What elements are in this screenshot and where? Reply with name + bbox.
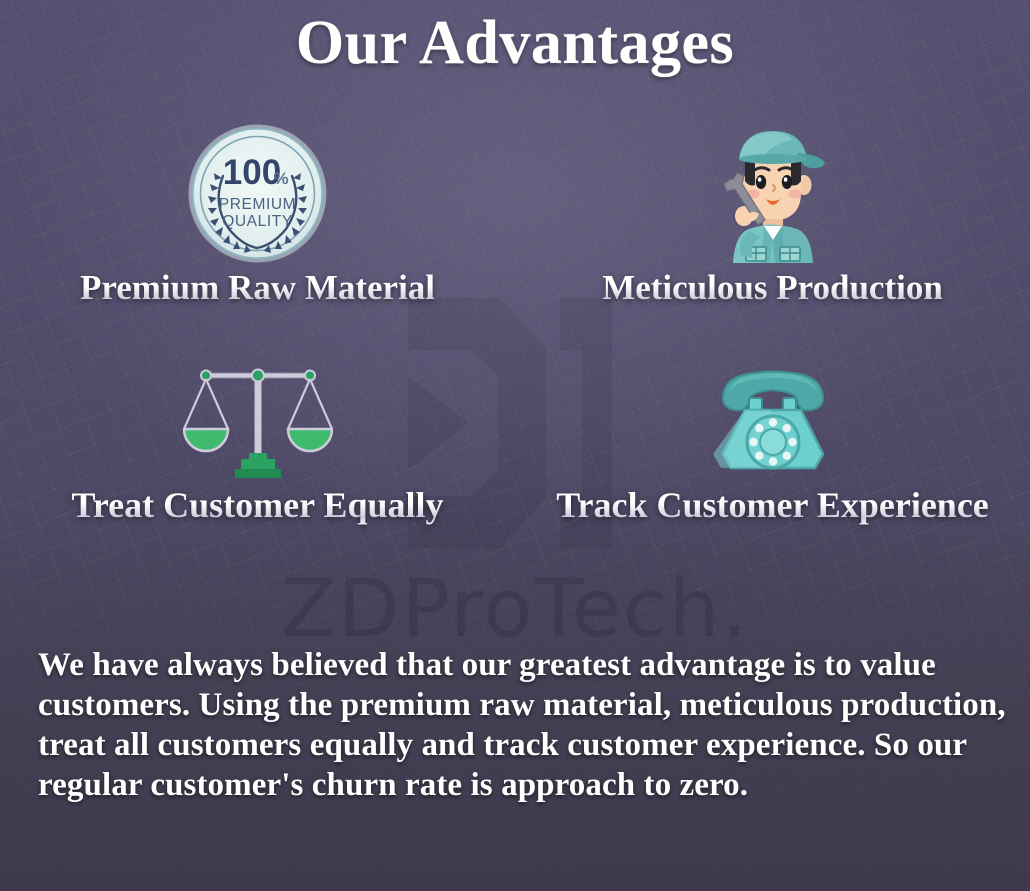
feature-premium-raw-material: 100 % PREMIUM QUALITY Premium Raw Materi… (0, 118, 515, 307)
page-title: Our Advantages (0, 11, 1030, 76)
feature-label: Meticulous Production (602, 270, 943, 307)
worker-with-wrench-icon (709, 123, 837, 263)
features-row-1: 100 % PREMIUM QUALITY Premium Raw Materi… (0, 118, 1030, 307)
body-paragraph: We have always believed that our greates… (38, 645, 1008, 805)
balance-scale-icon (183, 361, 333, 479)
rotary-telephone-icon (709, 364, 837, 476)
feature-icon-container (709, 118, 837, 268)
feature-label: Premium Raw Material (80, 270, 435, 307)
premium-quality-badge-icon: 100 % PREMIUM QUALITY (186, 122, 329, 265)
feature-meticulous-production: Meticulous Production (515, 118, 1030, 307)
feature-label: Track Customer Experience (556, 487, 989, 525)
feature-icon-container (183, 355, 333, 485)
badge-percent-value: 100 (223, 153, 281, 192)
advantages-poster: ZDProTech. Our Advantages (0, 0, 1030, 891)
features-grid: 100 % PREMIUM QUALITY Premium Raw Materi… (0, 118, 1030, 525)
badge-line-2: QUALITY (222, 213, 293, 230)
feature-label: Treat Customer Equally (71, 487, 443, 525)
badge-percent-symbol: % (273, 169, 288, 188)
badge-line-1: PREMIUM (219, 196, 296, 213)
feature-icon-container (709, 355, 837, 485)
feature-icon-container: 100 % PREMIUM QUALITY (186, 118, 329, 268)
features-row-2: Treat Customer Equally (0, 355, 1030, 525)
feature-track-customer-experience: Track Customer Experience (515, 355, 1030, 525)
feature-treat-customer-equally: Treat Customer Equally (0, 355, 515, 525)
